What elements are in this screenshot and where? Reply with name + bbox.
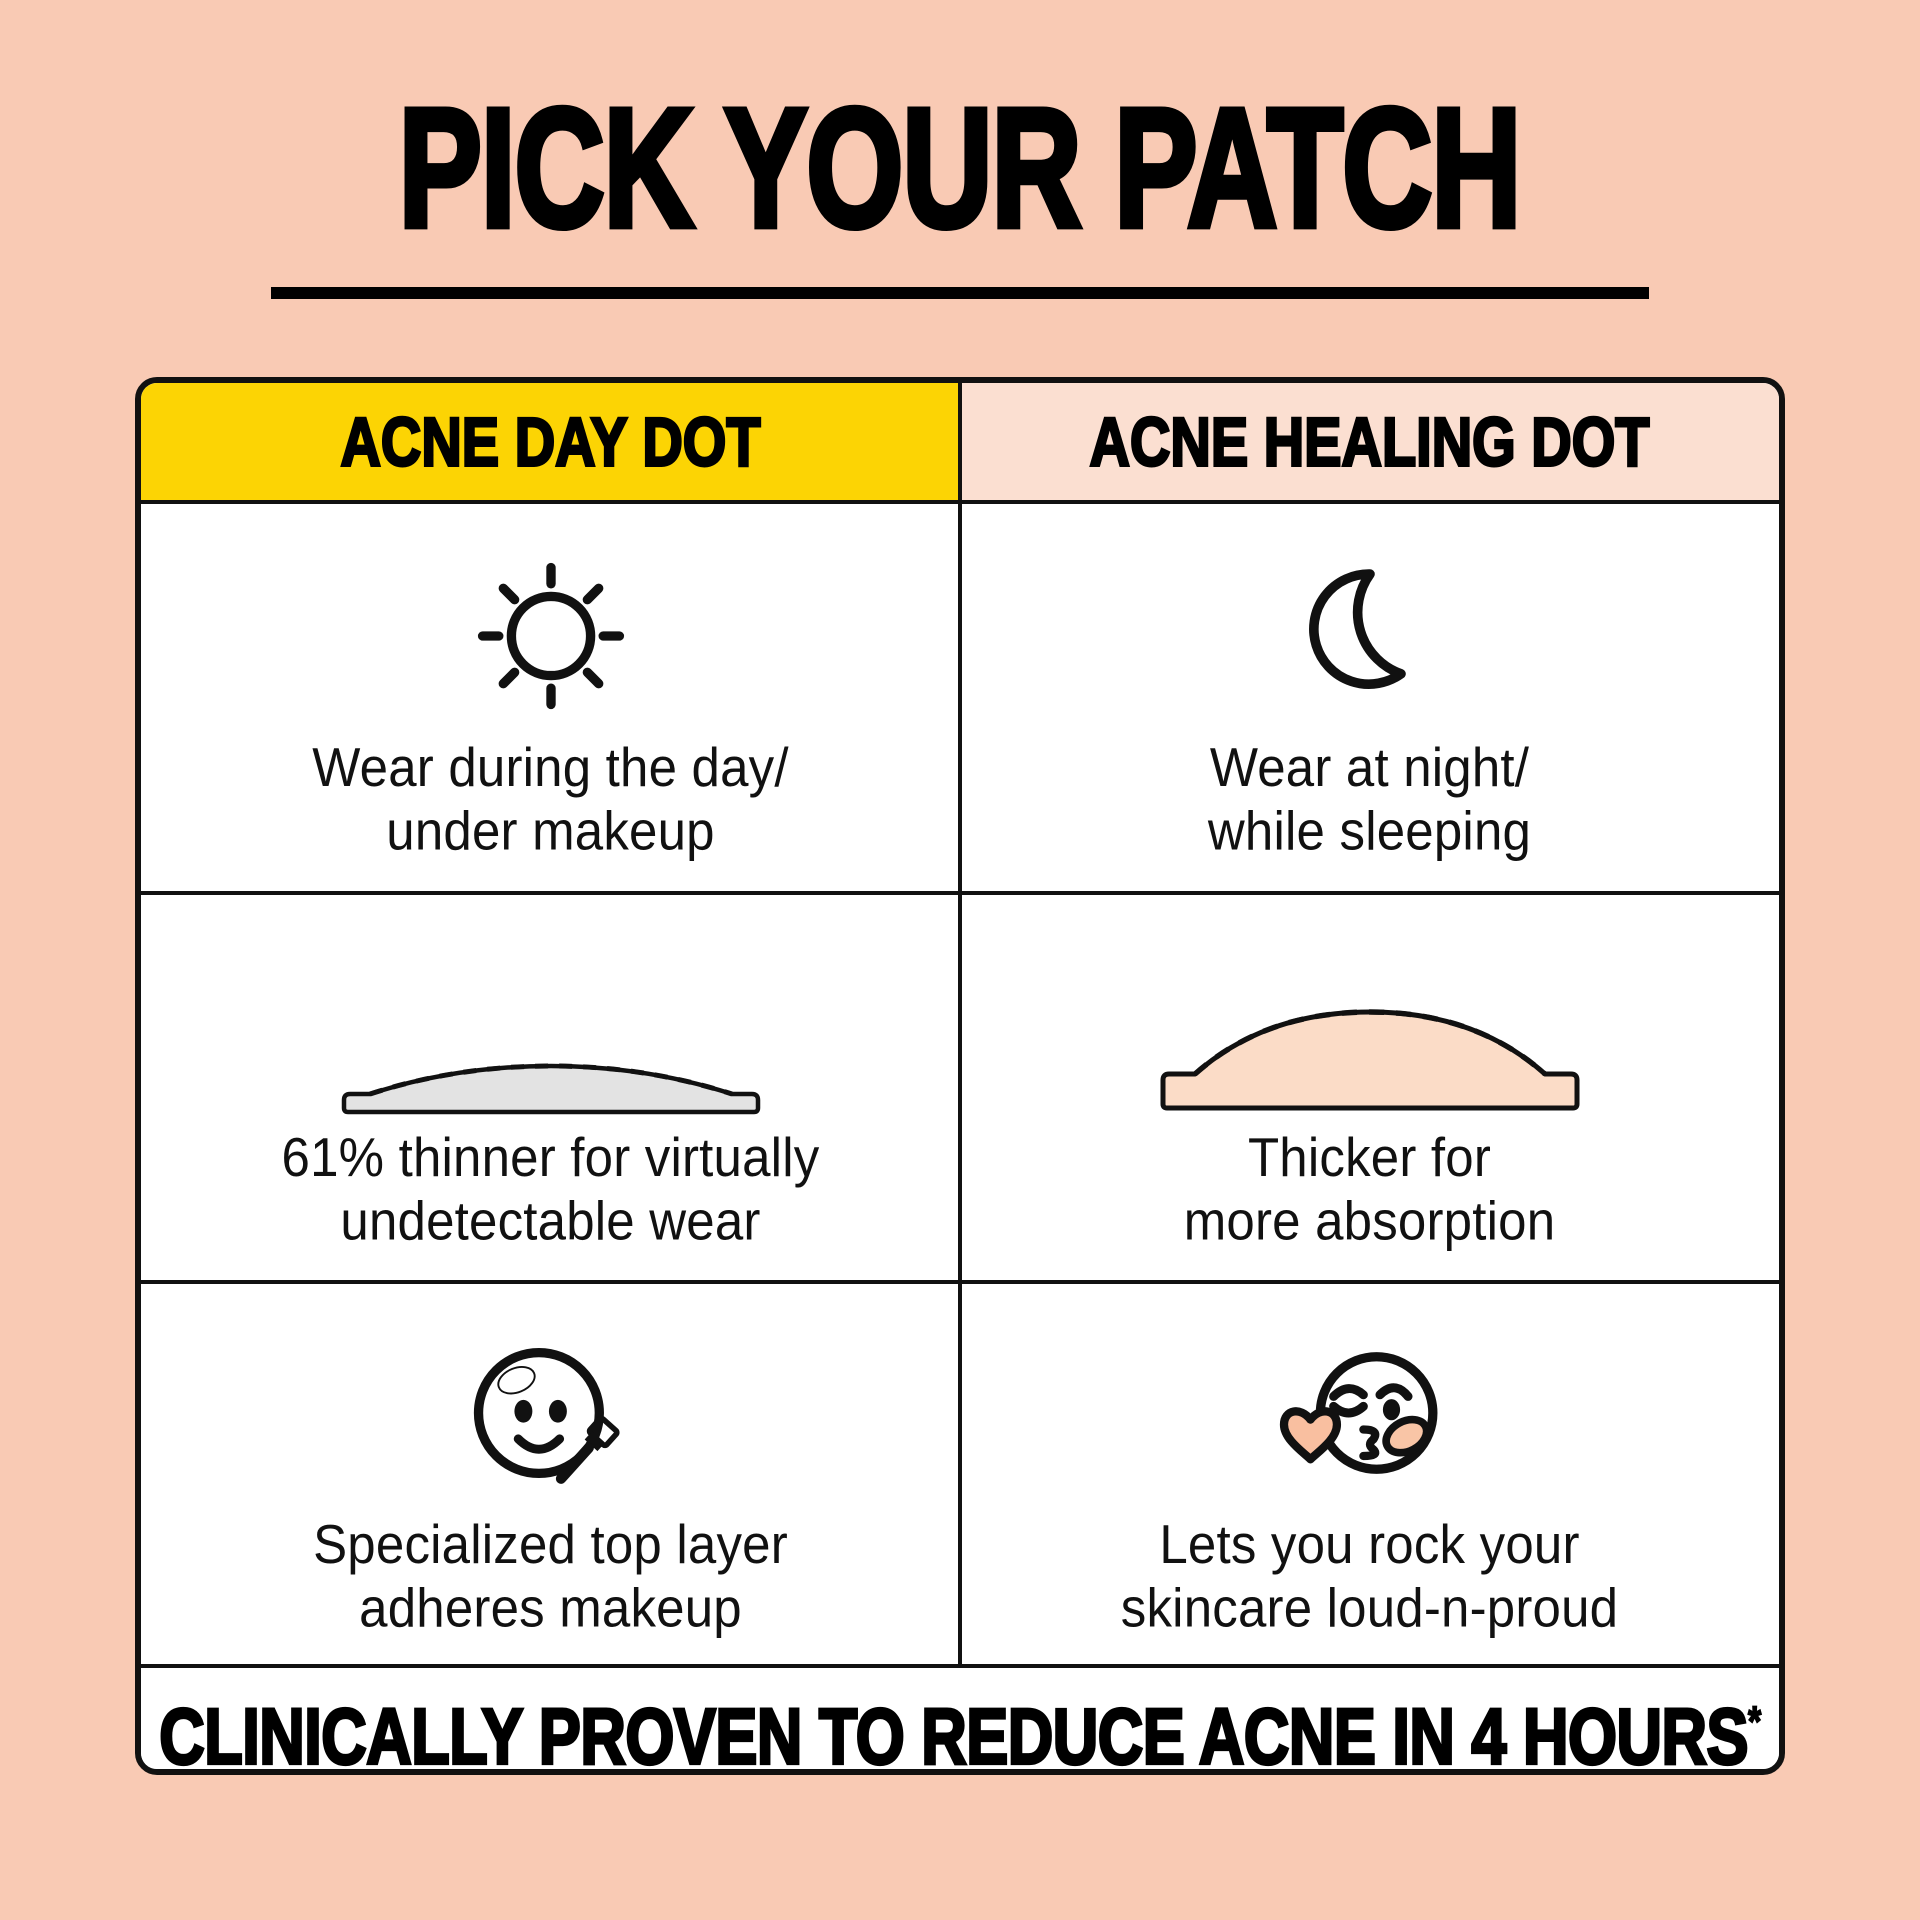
cell-day-when-to-wear: Wear during the day/ under makeup: [141, 504, 960, 891]
sun-icon: [461, 536, 641, 736]
infographic-page: PICK YOUR PATCH ACNE DAY DOT ACNE HEALIN…: [0, 0, 1920, 1920]
cell-description: Wear at night/ while sleeping: [1208, 736, 1531, 864]
cell-description: Lets you rock your skincare loud-n-proud: [1121, 1512, 1618, 1640]
thin-patch-cross-section-icon: [336, 926, 766, 1126]
claim-asterisk: *: [1748, 1698, 1761, 1746]
column-divider: [958, 383, 962, 1769]
column-header-label: ACNE HEALING DOT: [1090, 402, 1650, 481]
cell-night-thickness: Thicker for more absorption: [960, 895, 1779, 1280]
thick-patch-cross-section-icon: [1155, 926, 1585, 1126]
kissing-face-heart-icon: [1277, 1313, 1463, 1513]
clinical-claim-label: CLINICALLY PROVEN TO REDUCE ACNE IN 4 HO…: [159, 1693, 1748, 1775]
cell-night-use-case: Lets you rock your skincare loud-n-proud: [960, 1284, 1779, 1664]
smiley-face-makeup-brush-icon: [456, 1313, 646, 1513]
cell-description: Specialized top layer adheres makeup: [313, 1512, 788, 1640]
moon-icon: [1284, 536, 1456, 736]
column-header-acne-healing-dot: ACNE HEALING DOT: [960, 383, 1779, 500]
cell-description: 61% thinner for virtually undetectable w…: [282, 1126, 820, 1254]
title-divider-rule: [271, 287, 1649, 299]
comparison-table: ACNE DAY DOT ACNE HEALING DOT: [135, 377, 1785, 1775]
clinical-claim-text: CLINICALLY PROVEN TO REDUCE ACNE IN 4 HO…: [159, 1692, 1760, 1776]
clinical-claim-banner: CLINICALLY PROVEN TO REDUCE ACNE IN 4 HO…: [141, 1664, 1779, 1775]
cell-description: Wear during the day/ under makeup: [312, 736, 789, 864]
cell-day-thickness: 61% thinner for virtually undetectable w…: [141, 895, 960, 1280]
cell-description: Thicker for more absorption: [1184, 1126, 1556, 1254]
cell-night-when-to-wear: Wear at night/ while sleeping: [960, 504, 1779, 891]
page-title: PICK YOUR PATCH: [399, 84, 1521, 253]
cell-day-use-case: Specialized top layer adheres makeup: [141, 1284, 960, 1664]
title-block: PICK YOUR PATCH: [0, 0, 1920, 299]
column-header-label: ACNE DAY DOT: [340, 402, 760, 481]
column-header-acne-day-dot: ACNE DAY DOT: [141, 383, 960, 500]
